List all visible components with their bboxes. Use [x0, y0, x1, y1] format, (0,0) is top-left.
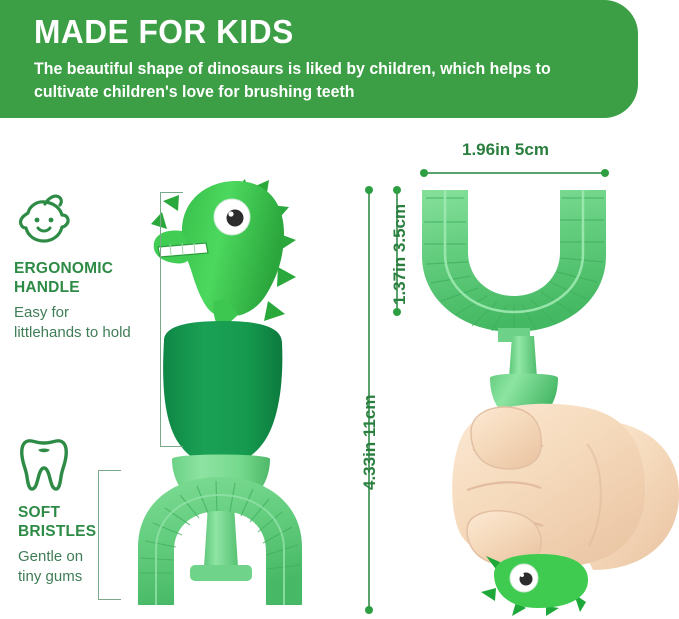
feature-desc-line1: Easy for: [14, 304, 69, 321]
feature-desc-ergonomic: Easy for littlehands to hold: [14, 303, 164, 343]
header-banner: MADE FOR KIDS The beautiful shape of din…: [0, 0, 638, 118]
dim-dot-brush-height-bottom: [393, 308, 401, 316]
dim-dot-brush-width-left: [420, 169, 428, 177]
page-title: MADE FOR KIDS: [34, 12, 614, 52]
feature-title-line2: BRISTLES: [18, 523, 96, 540]
stem-collar: [190, 565, 252, 581]
feature-title-line1: SOFT: [18, 504, 60, 521]
feature-title-line1: ERGONOMIC: [14, 260, 113, 277]
dim-dot-total-length-bottom: [365, 606, 373, 614]
feature-desc-line2: tiny gums: [18, 568, 82, 585]
bracket-soft-bristles: [98, 470, 121, 600]
dim-dot-total-length-top: [365, 186, 373, 194]
feature-title-bristles: SOFT BRISTLES: [18, 503, 168, 541]
handle-stem: [204, 505, 238, 567]
feature-desc-bristles: Gentle on tiny gums: [18, 547, 168, 587]
dinosaur-head-under-hand: [480, 554, 600, 616]
tooth-icon: [18, 437, 70, 493]
feature-desc-line2: littlehands to hold: [14, 324, 131, 341]
dino-eye-pupil: [227, 210, 244, 227]
feature-soft-bristles: SOFT BRISTLES Gentle on tiny gums: [18, 437, 168, 587]
dim-label-total-length: 4.33in 11cm: [360, 395, 380, 490]
u-shaped-brush-head-illustration: [414, 182, 614, 342]
feature-ergonomic-handle: ERGONOMIC HANDLE Easy for littlehands to…: [14, 193, 164, 343]
dim-label-brush-height: 1.37in 3.5cm: [390, 204, 410, 305]
feature-desc-line1: Gentle on: [18, 548, 83, 565]
dino-eye-glint: [228, 211, 233, 216]
dim-label-brush-width: 1.96in 5cm: [462, 140, 549, 160]
dim-dot-brush-width-right: [601, 169, 609, 177]
bracket-ergonomic-handle: [160, 192, 183, 447]
baby-face-icon: [14, 193, 74, 249]
feature-title-ergonomic: ERGONOMIC HANDLE: [14, 259, 164, 297]
dim-dot-brush-height-top: [393, 186, 401, 194]
dim-line-brush-width: [424, 172, 606, 174]
page-subtitle: The beautiful shape of dinosaurs is like…: [34, 58, 603, 104]
feature-title-line2: HANDLE: [14, 279, 80, 296]
